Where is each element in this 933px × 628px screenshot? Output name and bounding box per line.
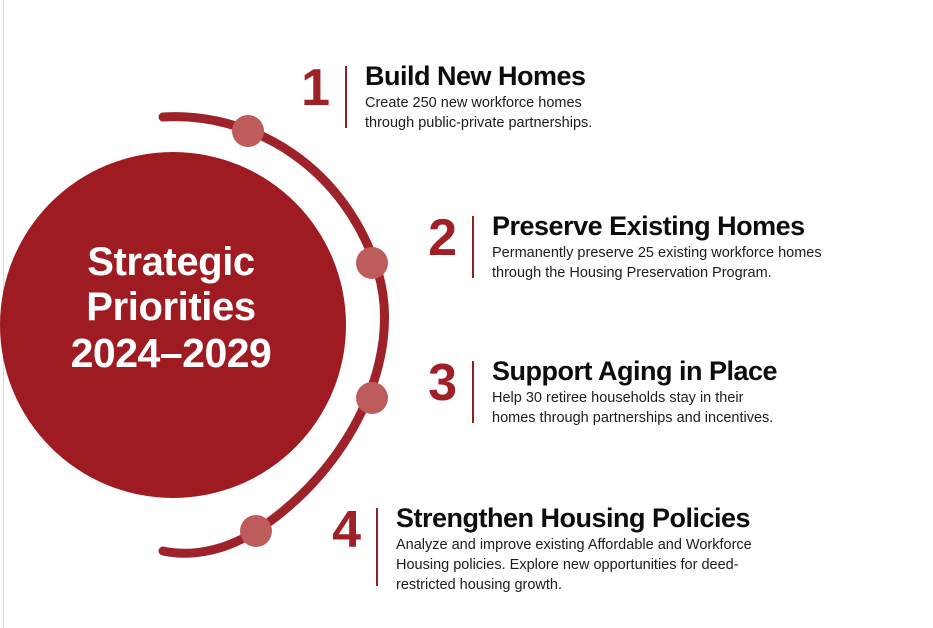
priority-item-4: 4 Strengthen Housing Policies Analyze an…	[316, 504, 752, 595]
hero-title-line-3: 2024–2029	[6, 330, 336, 376]
priority-description-3: Help 30 retiree households stay in their…	[492, 389, 777, 428]
priority-number-4: 4	[316, 504, 360, 556]
priority-item-3: 3 Support Aging in Place Help 30 retiree…	[412, 357, 777, 429]
priority-description-4: Analyze and improve existing Affordable …	[396, 536, 752, 595]
priority-number-3: 3	[412, 357, 456, 409]
infographic-canvas: Strategic Priorities 2024–2029 1 Build N…	[0, 0, 933, 628]
priority-item-1: 1 Build New Homes Create 250 new workfor…	[285, 62, 592, 134]
priority-item-2: 2 Preserve Existing Homes Permanently pr…	[412, 212, 822, 284]
priority-title-2: Preserve Existing Homes	[492, 212, 822, 241]
priority-divider-2	[472, 216, 474, 278]
hero-title-line-1: Strategic	[6, 240, 336, 285]
milestone-dot-3	[356, 382, 388, 414]
hero-title-line-2: Priorities	[6, 285, 336, 330]
priority-copy-2: Preserve Existing Homes Permanently pres…	[492, 212, 822, 284]
milestone-dot-1	[232, 115, 264, 147]
priority-number-2: 2	[412, 212, 456, 264]
priority-divider-4	[376, 508, 378, 586]
left-edge-rule	[3, 0, 4, 628]
priority-description-1: Create 250 new workforce homes through p…	[365, 94, 592, 133]
priority-title-3: Support Aging in Place	[492, 357, 777, 386]
priority-title-4: Strengthen Housing Policies	[396, 504, 752, 533]
priority-copy-3: Support Aging in Place Help 30 retiree h…	[492, 357, 777, 429]
milestone-dot-4	[240, 515, 272, 547]
priority-divider-3	[472, 361, 474, 423]
priority-description-2: Permanently preserve 25 existing workfor…	[492, 244, 822, 283]
priority-title-1: Build New Homes	[365, 62, 592, 91]
hero-title: Strategic Priorities 2024–2029	[6, 240, 336, 377]
milestone-dot-2	[356, 247, 388, 279]
priority-copy-4: Strengthen Housing Policies Analyze and …	[396, 504, 752, 595]
priority-copy-1: Build New Homes Create 250 new workforce…	[365, 62, 592, 134]
priority-number-1: 1	[285, 62, 329, 114]
priority-divider-1	[345, 66, 347, 128]
